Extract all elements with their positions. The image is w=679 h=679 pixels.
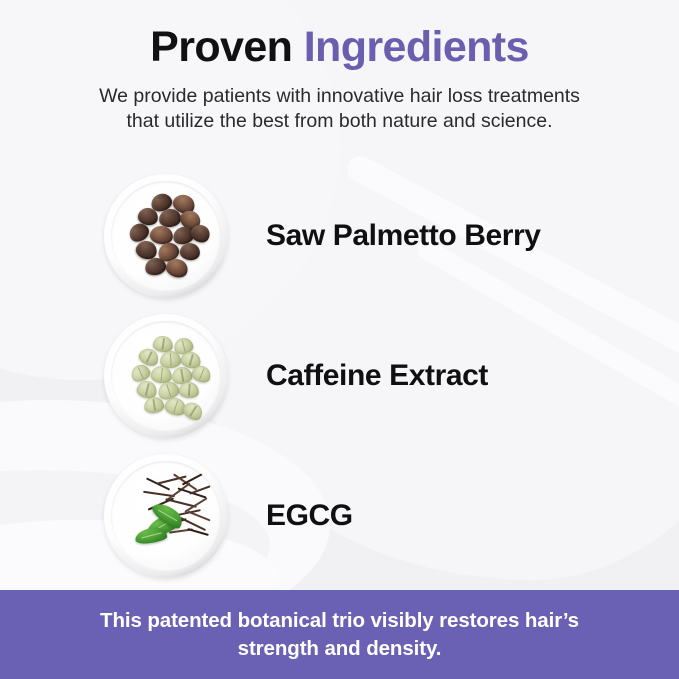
bottom-banner-line-2: strength and density. (70, 635, 610, 663)
page-subtitle-line-1: We provide patients with innovative hair… (60, 84, 620, 109)
bottom-banner: This patented botanical trio visibly res… (0, 590, 679, 679)
ingredients-infographic: Proven Ingredients We provide patients w… (0, 0, 679, 679)
ingredient-list: Saw Palmetto Berry (0, 166, 679, 586)
petri-dish-saw-palmetto-berries-icon (104, 174, 228, 298)
ingredient-label: Saw Palmetto Berry (266, 219, 541, 253)
list-item: Saw Palmetto Berry (0, 166, 679, 306)
list-item: EGCG (0, 446, 679, 586)
saw-palmetto-berries (111, 181, 221, 291)
page-title-accent: Ingredients (304, 23, 529, 71)
petri-dish-interior (111, 181, 221, 291)
green-tea-leaves (111, 461, 221, 571)
page-subtitle: We provide patients with innovative hair… (60, 84, 620, 134)
list-item: Caffeine Extract (0, 306, 679, 446)
page-title-primary: Proven (150, 23, 292, 71)
page-title: Proven Ingredients (0, 22, 679, 72)
petri-dish-interior (111, 321, 221, 431)
bottom-banner-text: This patented botanical trio visibly res… (70, 607, 610, 663)
ingredient-label: Caffeine Extract (266, 359, 488, 393)
page-subtitle-line-2: that utilize the best from both nature a… (60, 109, 620, 134)
green-coffee-beans (111, 321, 221, 431)
fresh-tea-leaf (134, 526, 167, 544)
petri-dish-green-coffee-beans-icon (104, 314, 228, 438)
bottom-banner-line-1: This patented botanical trio visibly res… (70, 607, 610, 635)
petri-dish-green-tea-leaves-icon (104, 454, 228, 578)
header: Proven Ingredients We provide patients w… (0, 22, 679, 134)
petri-dish-interior (111, 461, 221, 571)
ingredient-label: EGCG (266, 499, 353, 533)
